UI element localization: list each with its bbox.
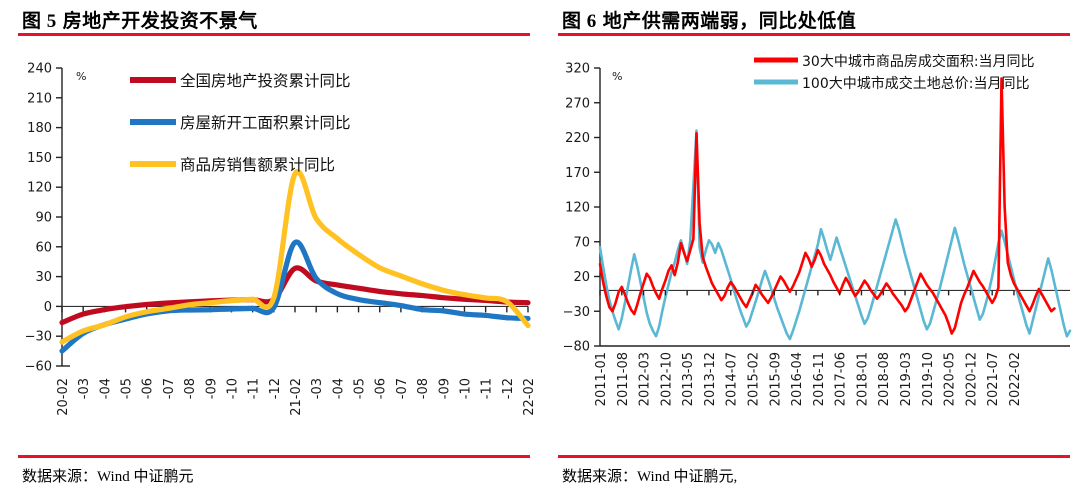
x-tick-label: 2020‐05 [943,352,958,406]
x-tick-label: ‐09 [437,378,452,399]
x-tick-label: ‐05 [120,378,135,399]
x-tick-label: ‐05 [353,378,368,399]
x-tick-label: ‐12 [268,378,283,399]
figure-6-source: 数据来源：Wind 中证鹏元, [562,465,737,486]
y-tick-label: 60 [35,240,52,255]
y-tick-label: 170 [565,166,590,181]
y-tick-label: 150 [27,151,52,166]
legend-label: 100大中城市成交土地总价:当月同比 [802,75,1029,92]
y-tick-label: 180 [27,121,52,136]
figure-5-panel: 图 5房地产开发投资不景气 2402101801501209060300−30−… [0,0,540,497]
x-tick-label: 2016‐11 [812,352,827,406]
figure-6-svg: 3202702201701207020−30−80%2011‐012011‐08… [540,46,1080,446]
x-tick-label: ‐07 [395,378,410,399]
figure-6-panel: 图 6地产供需两端弱，同比处低值 3202702201701207020−30−… [540,0,1080,497]
y-tick-label: 210 [27,91,52,106]
x-tick-label: ‐11 [247,378,262,399]
y-tick-label: 120 [565,201,590,216]
y-tick-label: 220 [565,131,590,146]
x-tick-label: 2021‐07 [986,352,1001,406]
legend-label: 30大中城市商品房成交面积:当月同比 [802,53,1035,70]
figure-5-top-rule [18,33,530,36]
x-tick-label: 2019‐10 [921,352,936,406]
figure-6-chart: 3202702201701207020−30−80%2011‐012011‐08… [540,46,1080,446]
x-tick-label: ‐08 [183,378,198,399]
x-tick-label: ‐07 [162,378,177,399]
figure-6-bottom-rule [558,455,1070,458]
x-tick-label: ‐10 [225,378,240,399]
y-tick-label: −30 [25,330,52,345]
figure-5-number: 图 5 [22,11,57,32]
legend-label: 房屋新开工面积累计同比 [180,114,351,132]
y-tick-label: 240 [27,62,52,77]
x-tick-label: 21‐02 [289,378,304,416]
legend-label: 商品房销售额累计同比 [180,156,335,174]
figure-5-bottom-rule [18,455,530,458]
x-tick-label: 2015‐02 [747,352,762,406]
figure-6-number: 图 6 [562,11,597,32]
y-axis-unit: % [76,70,86,83]
x-tick-label: 20‐02 [56,378,71,416]
series-line [600,78,1054,333]
x-tick-label: ‐10 [458,378,473,399]
x-tick-label: 2018‐08 [877,352,892,406]
x-tick-label: ‐03 [77,378,92,399]
x-tick-label: 2018‐01 [855,352,870,406]
x-tick-label: ‐06 [141,378,156,399]
y-tick-label: 320 [565,62,590,77]
x-tick-label: 2016‐04 [790,352,805,406]
y-tick-label: −30 [563,305,590,320]
figure-5-source: 数据来源：Wind 中证鹏元 [22,465,193,486]
x-tick-label: 2017‐06 [834,352,849,406]
x-tick-label: 2019‐03 [899,352,914,406]
x-tick-label: 2013‐05 [681,352,696,406]
x-tick-label: 22‐02 [522,378,537,416]
legend-label: 全国房地产投资累计同比 [180,72,351,90]
x-tick-label: 2011‐01 [594,352,609,406]
y-axis-unit: % [612,70,622,83]
x-tick-label: 2012‐03 [638,352,653,406]
y-tick-label: 90 [35,211,52,226]
x-tick-label: ‐09 [204,378,219,399]
y-tick-label: 70 [573,235,590,250]
y-tick-label: 20 [573,270,590,285]
x-tick-label: ‐12 [501,378,516,399]
x-tick-label: ‐03 [310,378,325,399]
x-tick-label: 2014‐07 [725,352,740,406]
y-tick-label: 270 [565,96,590,111]
y-tick-label: 0 [44,300,52,315]
x-tick-label: 2012‐10 [659,352,674,406]
x-tick-label: ‐08 [416,378,431,399]
y-tick-label: 30 [35,270,52,285]
report-figures-page: 图 5房地产开发投资不景气 2402101801501209060300−30−… [0,0,1080,497]
x-tick-label: 2011‐08 [616,352,631,406]
figure-5-chart: 2402101801501209060300−30−60%全国房地产投资累计同比… [0,46,540,446]
x-tick-label: 2022‐02 [1008,352,1023,406]
x-tick-label: ‐04 [98,378,113,399]
figure-6-title-text: 地产供需两端弱，同比处低值 [603,11,857,32]
figure-5-title-text: 房地产开发投资不景气 [63,11,258,32]
x-tick-label: 2020‐12 [964,352,979,406]
x-tick-label: 2015‐09 [768,352,783,406]
y-tick-label: −60 [25,360,52,375]
x-tick-label: ‐06 [374,378,389,399]
figure-5-svg: 2402101801501209060300−30−60%全国房地产投资累计同比… [0,46,540,446]
y-tick-label: −80 [563,340,590,355]
y-tick-label: 120 [27,181,52,196]
figure-6-top-rule [558,33,1070,36]
x-tick-label: 2013‐12 [703,352,718,406]
figure-5-title: 图 5房地产开发投资不景气 [0,0,540,33]
figure-6-title: 图 6地产供需两端弱，同比处低值 [540,0,1080,33]
series-line [62,172,528,342]
x-tick-label: ‐11 [480,378,495,399]
x-tick-label: ‐04 [331,378,346,399]
